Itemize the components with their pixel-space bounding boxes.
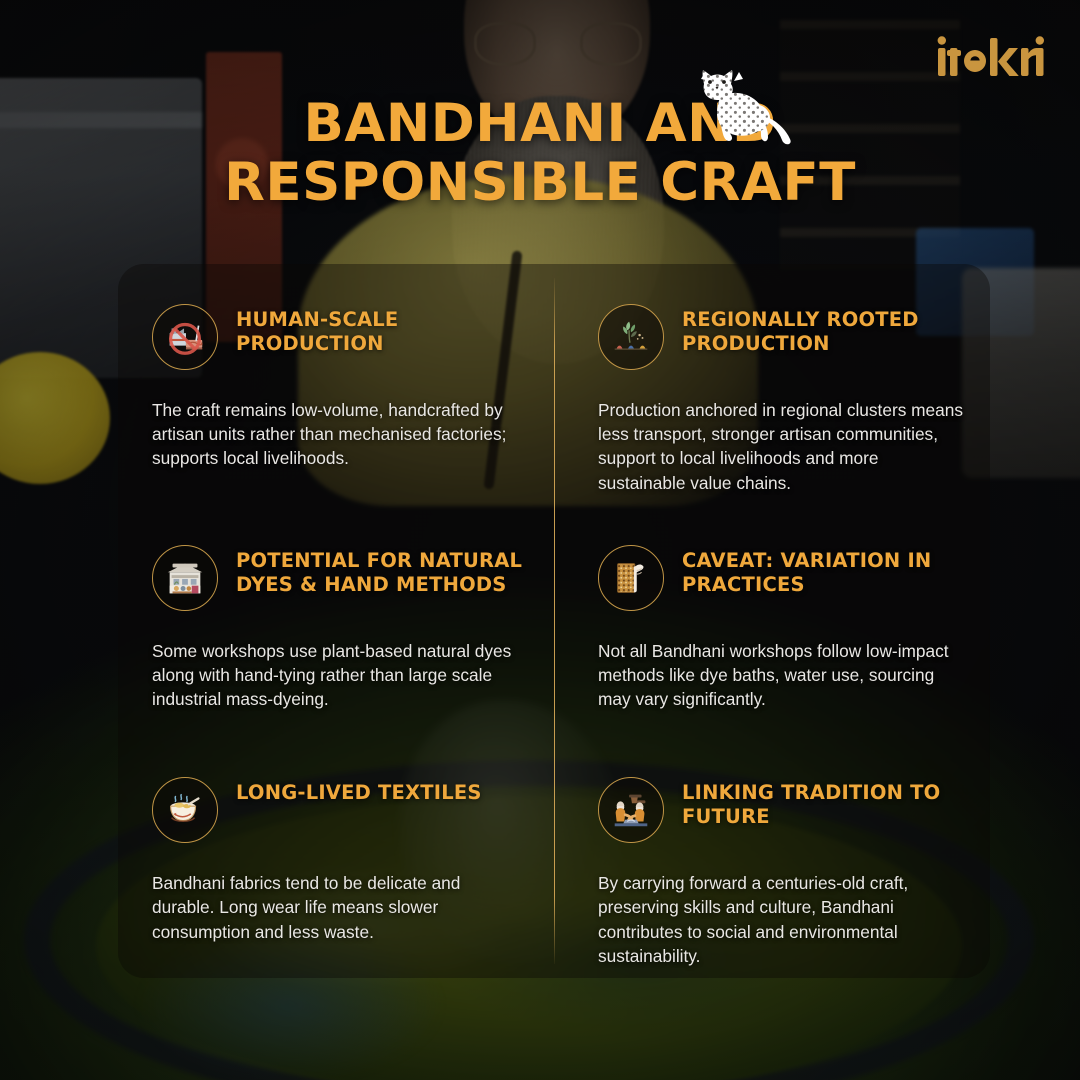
card-title: HUMAN-SCALE PRODUCTION [236,302,526,356]
card-caveat-variation-in-practices: CAVEAT: VARIATION IN PRACTICES Not all B… [554,505,990,737]
brand-logo-itokri[interactable] [936,34,1044,80]
card-title: POTENTIAL FOR NATURAL DYES & HAND METHOD… [236,543,526,597]
steaming-dye-pot-icon [152,777,218,843]
infographic-poster: BANDHANI AND RESPONSIBLE CRAFT [0,0,1080,1080]
card-body: The craft remains low-volume, handcrafte… [152,398,526,471]
card-body: By carrying forward a centuries-old craf… [598,871,968,968]
no-factory-icon [152,304,218,370]
artisan-workshop-building-icon [152,545,218,611]
hand-holding-patterned-fabric-icon [598,545,664,611]
card-title: LONG-LIVED TEXTILES [236,775,482,805]
card-body: Not all Bandhani workshops follow low-im… [598,639,968,712]
content-panel: HUMAN-SCALE PRODUCTION The craft remains… [118,264,990,978]
card-title: LINKING TRADITION TO FUTURE [682,775,968,829]
card-human-scale-production: HUMAN-SCALE PRODUCTION The craft remains… [118,264,554,505]
card-natural-dyes-hand-methods: POTENTIAL FOR NATURAL DYES & HAND METHOD… [118,505,554,737]
card-linking-tradition-to-future: LINKING TRADITION TO FUTURE By carrying … [554,737,990,978]
two-artisans-working-icon [598,777,664,843]
poster-title: BANDHANI AND RESPONSIBLE CRAFT [0,94,1080,213]
card-title: CAVEAT: VARIATION IN PRACTICES [682,543,968,597]
card-long-lived-textiles: LONG-LIVED TEXTILES Bandhani fabrics ten… [118,737,554,978]
card-regionally-rooted-production: REGIONALLY ROOTED PRODUCTION Production … [554,264,990,505]
card-body: Production anchored in regional clusters… [598,398,968,495]
plant-dye-mounds-icon [598,304,664,370]
itokri-wordmark-icon [936,34,1044,80]
card-body: Some workshops use plant-based natural d… [152,639,526,712]
title-line-1: BANDHANI AND [0,94,1080,153]
card-title: REGIONALLY ROOTED PRODUCTION [682,302,968,356]
title-line-2: RESPONSIBLE CRAFT [0,153,1080,212]
card-body: Bandhani fabrics tend to be delicate and… [152,871,526,944]
